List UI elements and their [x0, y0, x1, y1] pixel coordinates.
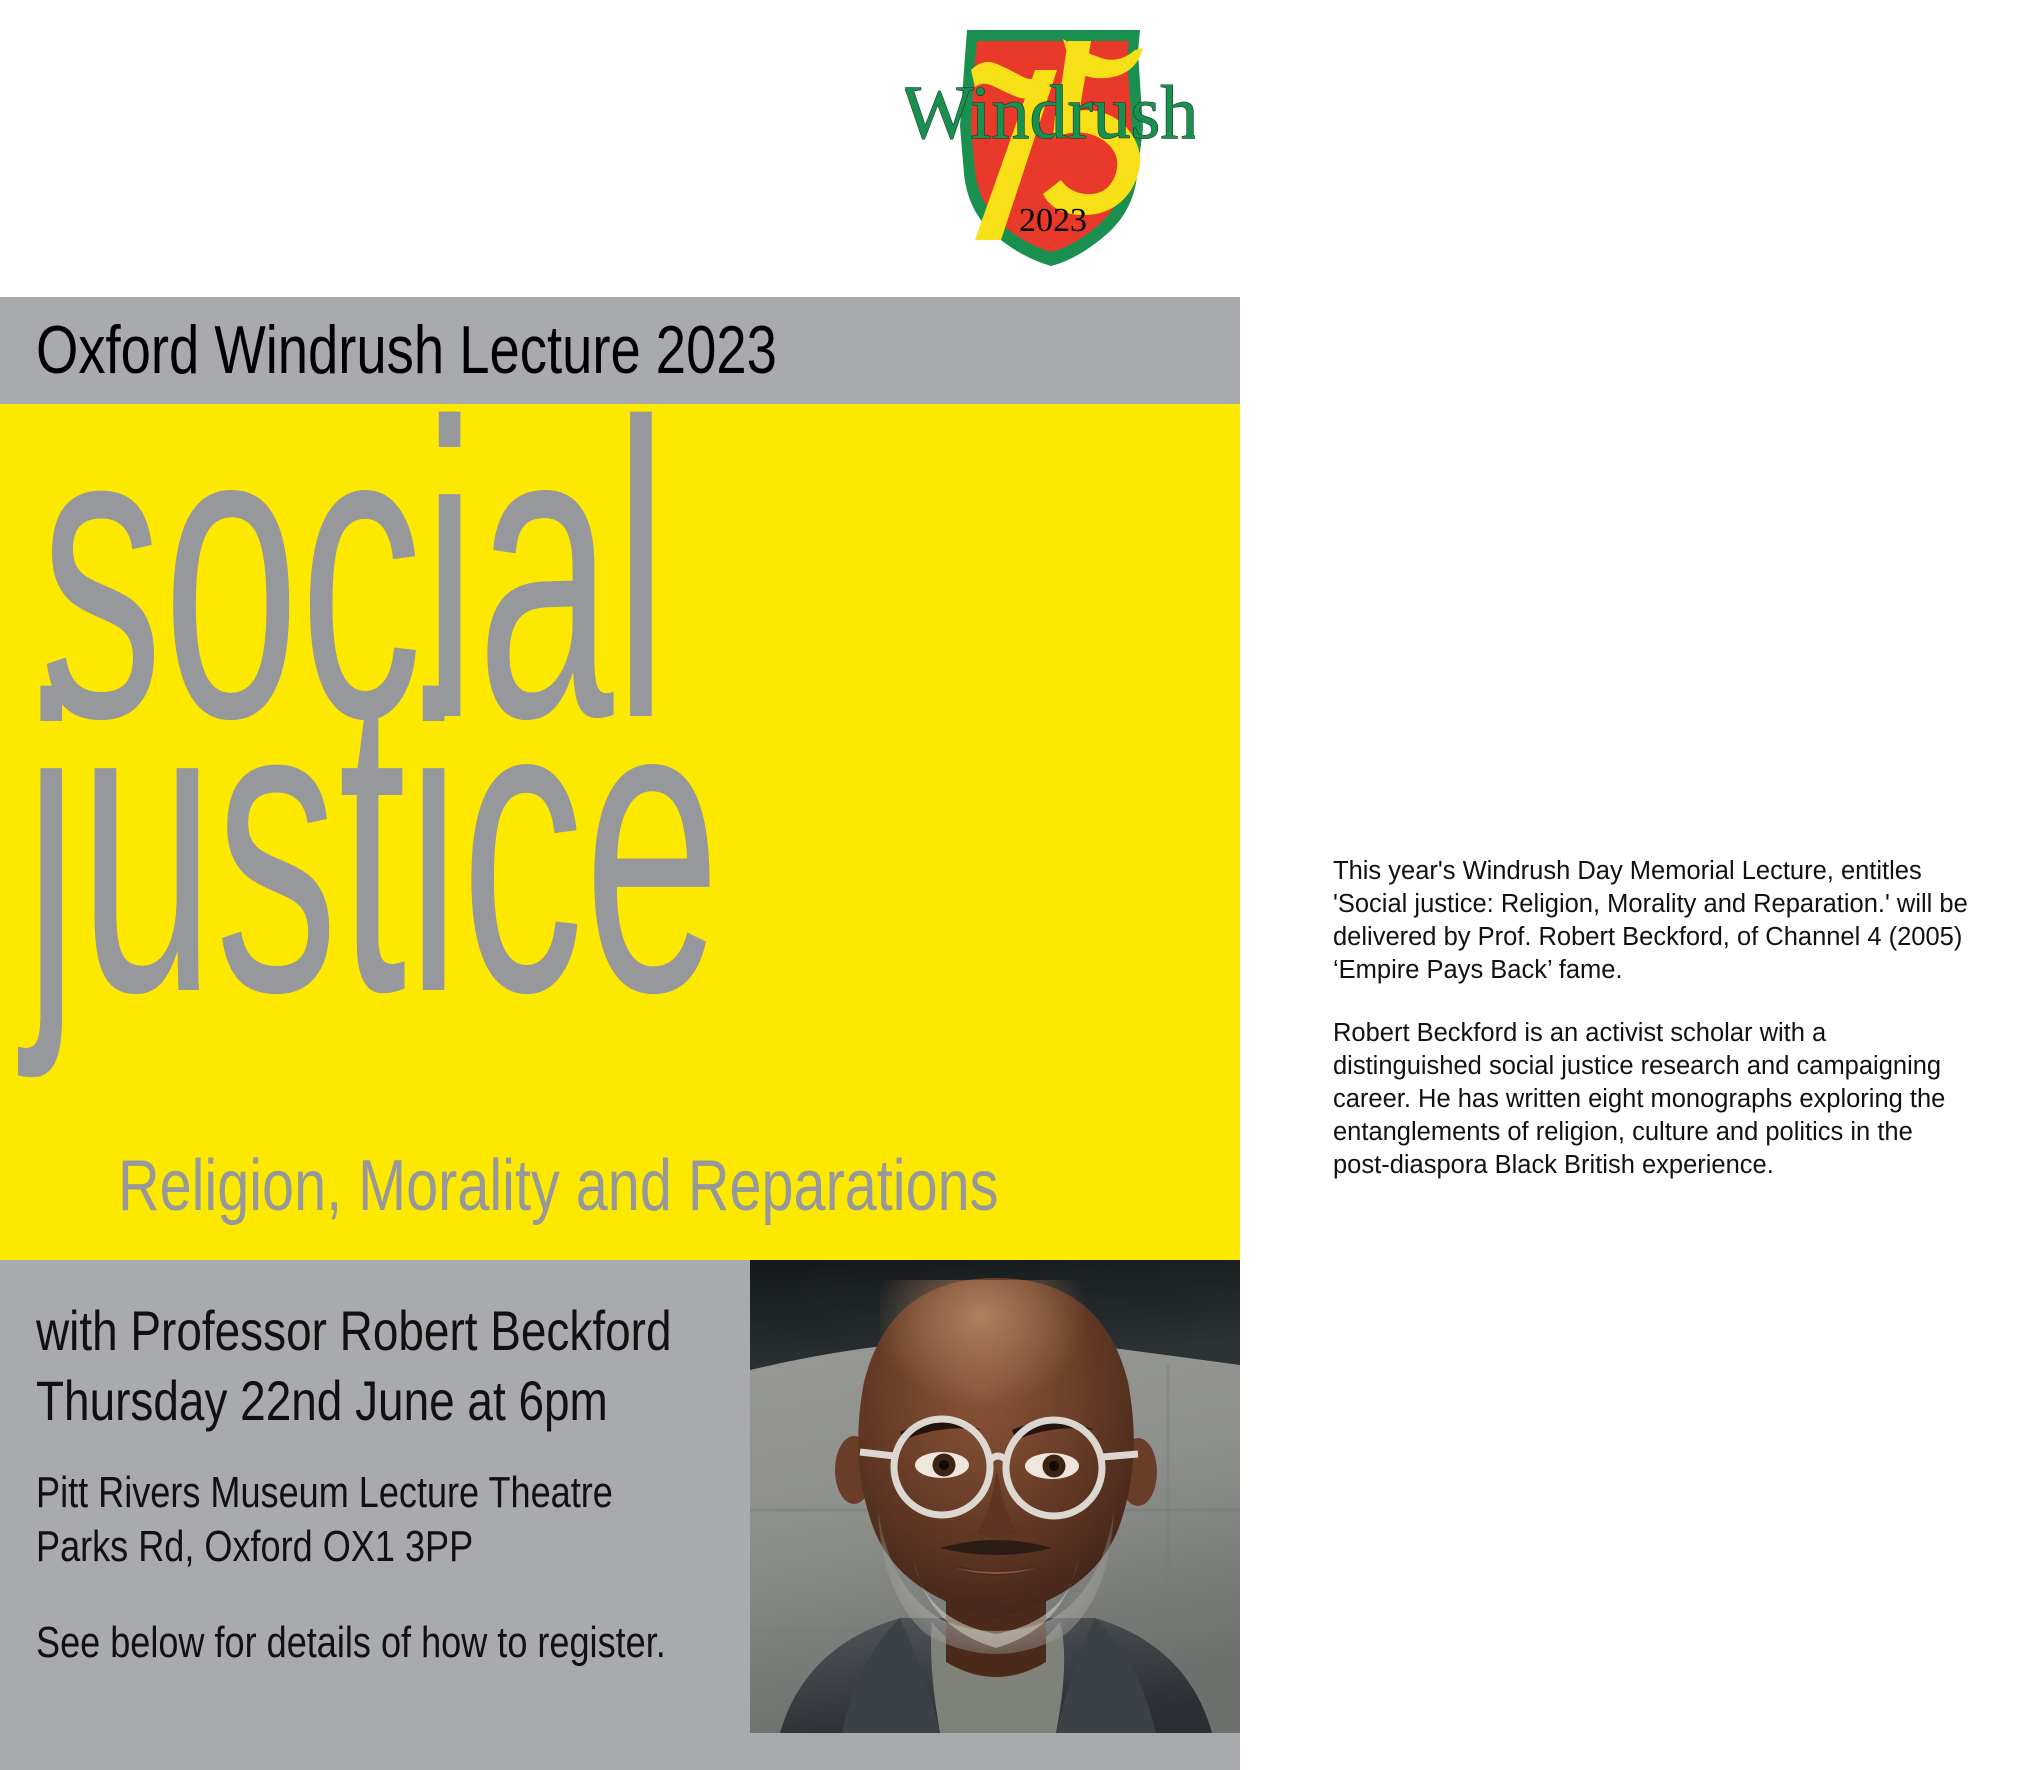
- details-spacer-2: [36, 1574, 726, 1616]
- logo-year-text: 2023: [1019, 202, 1087, 239]
- photo-pupil-left: [939, 1460, 949, 1470]
- hero-word-justice: justice: [24, 636, 720, 1056]
- windrush-75-logo: Windrush 2023: [905, 8, 1195, 270]
- event-details: with Professor Robert Beckford Thursday …: [36, 1296, 726, 1670]
- photo-glasses-temple-right: [1102, 1454, 1138, 1457]
- details-spacer-1: [36, 1436, 726, 1466]
- photo-glasses-bridge: [990, 1456, 1006, 1460]
- photo-head-highlight: [880, 1280, 1120, 1480]
- lecture-poster: Oxford Windrush Lecture 2023 social just…: [0, 297, 1240, 1770]
- detail-speaker: with Professor Robert Beckford: [36, 1296, 602, 1366]
- windrush-logo-svg: Windrush 2023: [905, 8, 1195, 270]
- detail-datetime: Thursday 22nd June at 6pm: [36, 1366, 602, 1436]
- photo-pupil-right: [1049, 1461, 1059, 1471]
- logo-wordmark-text: Windrush: [905, 71, 1195, 155]
- description-paragraph-1: This year's Windrush Day Memorial Lectur…: [1333, 855, 1973, 987]
- lecture-description: This year's Windrush Day Memorial Lectur…: [1333, 855, 1973, 1182]
- poster-hero-band: social justice Religion, Morality and Re…: [0, 404, 1240, 1260]
- speaker-portrait-photo: [750, 1260, 1240, 1733]
- photo-glasses-temple-left: [860, 1452, 894, 1456]
- detail-venue-address: Parks Rd, Oxford OX1 3PP: [36, 1520, 602, 1574]
- hero-subtitle: Religion, Morality and Reparations: [118, 1144, 998, 1228]
- page-title: Oxford Windrush Lecture 2023: [36, 310, 777, 390]
- detail-venue-name: Pitt Rivers Museum Lecture Theatre: [36, 1466, 602, 1520]
- poster-header-band: Oxford Windrush Lecture 2023: [0, 297, 1240, 404]
- speaker-portrait-svg: [750, 1260, 1240, 1733]
- description-paragraph-2: Robert Beckford is an activist scholar w…: [1333, 1017, 1973, 1182]
- detail-register-note: See below for details of how to register…: [36, 1616, 602, 1670]
